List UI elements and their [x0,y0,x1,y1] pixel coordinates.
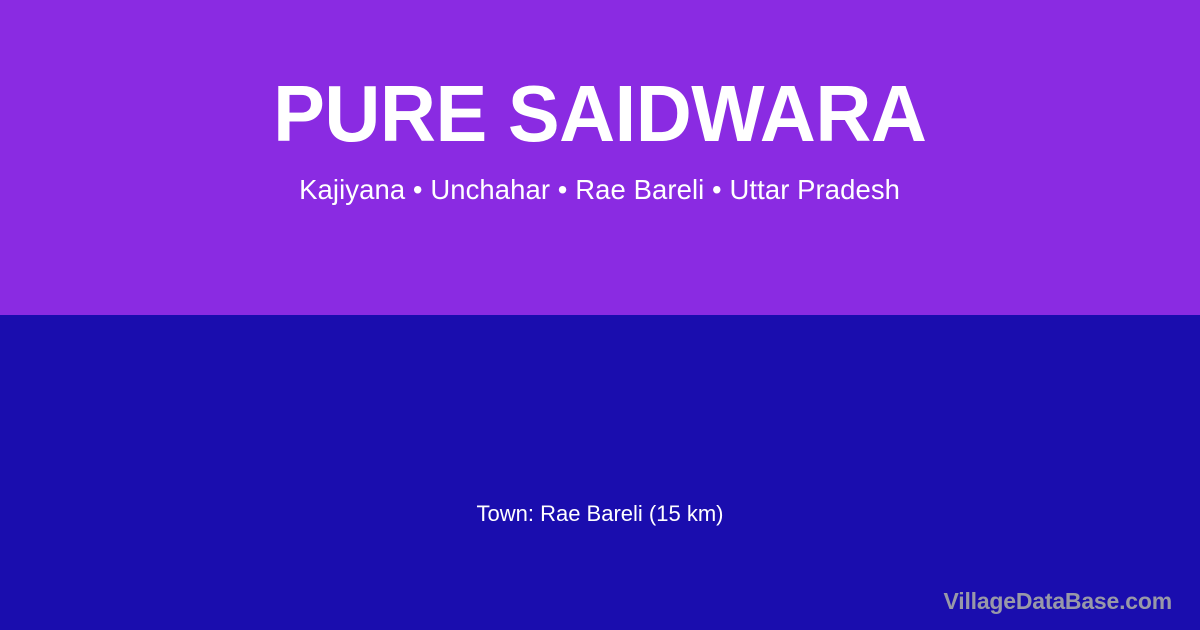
page-title: PURE SAIDWARA [273,74,926,154]
village-preview-card: PURE SAIDWARA Kajiyana • Unchahar • Rae … [0,0,1200,630]
site-watermark: VillageDataBase.com [944,588,1172,616]
nearest-town-text: Town: Rae Bareli (15 km) [0,501,1200,527]
details-panel: Town: Rae Bareli (15 km) VillageDataBase… [0,315,1200,630]
hero-banner: PURE SAIDWARA Kajiyana • Unchahar • Rae … [0,0,1200,315]
breadcrumb: Kajiyana • Unchahar • Rae Bareli • Uttar… [300,174,901,206]
